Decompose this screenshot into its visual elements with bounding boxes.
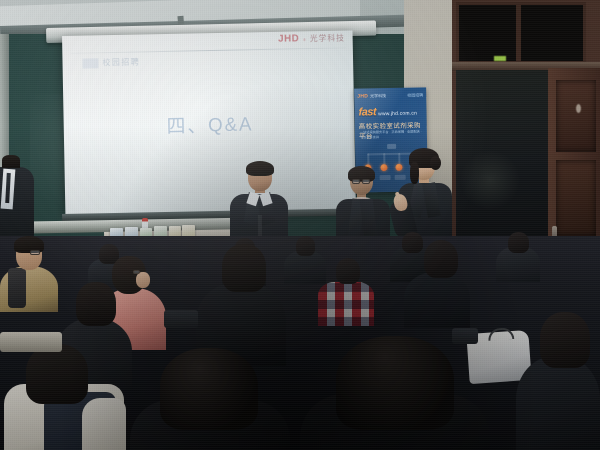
transom-mullion xyxy=(516,2,521,64)
audience-head xyxy=(76,282,116,326)
audience-head xyxy=(508,232,529,253)
audience-head xyxy=(336,258,360,284)
eyeglasses-icon xyxy=(30,250,40,255)
audience-bag-handle xyxy=(488,327,515,341)
lecture-hall-photo: JHD ® 光学科技 校园招聘 四、Q&A JHD 光学科技 校园招聘 fast… xyxy=(0,0,600,450)
doorway-light-glow xyxy=(460,150,520,210)
eyeglasses-icon xyxy=(133,270,140,274)
door-panel-upper xyxy=(556,80,596,152)
presenter-left-head xyxy=(2,155,20,168)
transom-window xyxy=(456,2,586,64)
presenter-woman-hair-bun xyxy=(430,156,441,170)
door-panel-lower xyxy=(556,160,596,236)
audience-head xyxy=(296,236,315,256)
audience-head xyxy=(402,232,423,253)
audience-head xyxy=(540,312,590,368)
audience-hood-fold xyxy=(82,398,126,450)
audience-foreground-head xyxy=(336,336,454,430)
audience-head xyxy=(26,344,88,404)
seat-back xyxy=(452,328,478,344)
presenter-woman-hair-side xyxy=(410,162,419,184)
door-highlight xyxy=(576,104,581,113)
audience-head xyxy=(424,240,458,278)
screen-sheen xyxy=(62,30,356,218)
eyeglasses-icon xyxy=(352,179,360,184)
presenter-man-hair xyxy=(246,161,274,176)
eyeglasses-bridge xyxy=(360,181,363,182)
audience-area xyxy=(0,236,600,450)
desk-surface xyxy=(0,332,62,352)
eyeglasses-icon xyxy=(362,179,370,184)
projection-screen: JHD ® 光学科技 校园招聘 四、Q&A xyxy=(62,30,356,218)
audience-face-profile xyxy=(136,272,150,288)
audience-shoulders xyxy=(516,356,600,450)
audience-vest-inner xyxy=(8,268,26,308)
audience-head xyxy=(222,244,266,292)
audience-plaid-jacket xyxy=(318,282,374,326)
seat-back xyxy=(164,310,198,328)
transom-tape-marker xyxy=(494,56,506,61)
audience-foreground-head xyxy=(160,348,258,430)
audience-shoulders xyxy=(404,272,470,328)
